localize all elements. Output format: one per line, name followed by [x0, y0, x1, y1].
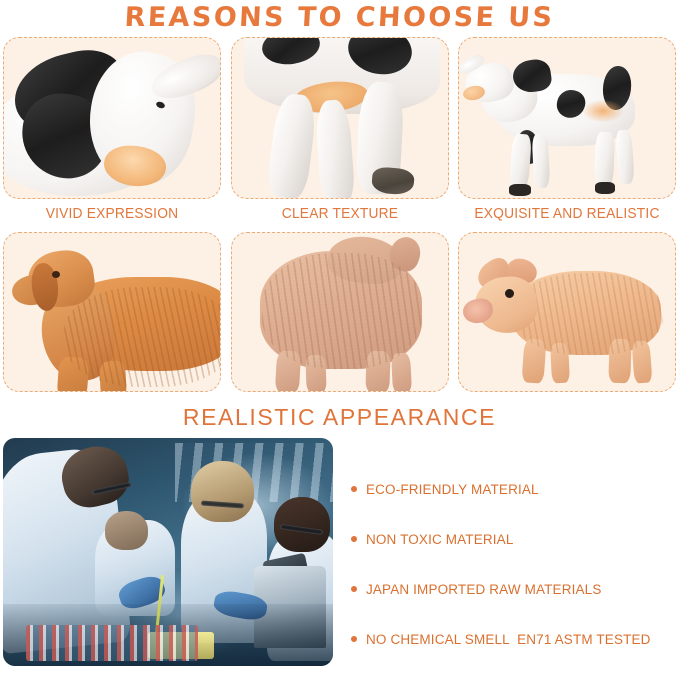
product-image-full-calf [458, 37, 676, 199]
laboratory-photo [3, 438, 333, 666]
bullet-icon [351, 586, 357, 592]
scientist-head-2 [105, 511, 148, 550]
feature-label: JAPAN IMPORTED RAW MATERIALS [366, 582, 601, 597]
calf-tan-shading [583, 100, 623, 122]
feature-list: ECO-FRIENDLY MATERIAL NON TOXIC MATERIAL… [333, 438, 679, 666]
gallery-row-2 [0, 232, 679, 392]
feature-item: NO CHEMICAL SMELL EN71 ASTM TESTED [351, 614, 679, 664]
caption-exquisite-and-realistic: EXQUISITE AND REALISTIC [467, 199, 668, 229]
calf-leg-4 [615, 130, 635, 185]
caption-vivid-expression: VIVID EXPRESSION [12, 199, 213, 229]
product-image-calf-legs [231, 37, 449, 199]
gallery-row-1: VIVID EXPRESSION CLEAR TEXTURE [0, 37, 679, 229]
feature-label: ECO-FRIENDLY MATERIAL [366, 482, 539, 497]
page-title: REASONS TO CHOOSE US [0, 0, 679, 33]
bullet-icon [351, 636, 357, 642]
realistic-appearance-section: ECO-FRIENDLY MATERIAL NON TOXIC MATERIAL… [0, 438, 679, 666]
gallery-cell-vivid-expression: VIVID EXPRESSION [3, 37, 221, 229]
pig-fur-texture [515, 273, 663, 355]
sheep-fleece-texture [262, 253, 422, 369]
dog-eye-shape [52, 271, 60, 278]
calf-leg-2 [532, 134, 551, 189]
scientist-head-3 [191, 461, 254, 523]
feature-item: NON TOXIC MATERIAL [351, 514, 679, 564]
gallery-cell-pig [458, 232, 676, 392]
pig-eye-shape [505, 289, 514, 298]
calf-hoof-1 [509, 184, 531, 196]
test-tube-rack [26, 625, 198, 661]
product-image-sheep [231, 232, 449, 392]
product-image-calf-head [3, 37, 221, 199]
gallery-cell-sheep [231, 232, 449, 392]
calf-hoof-2 [595, 182, 615, 194]
calf-leg-3 [594, 132, 615, 189]
calf-leg-1 [265, 92, 317, 199]
gallery-cell-exquisite-realistic: EXQUISITE AND REALISTIC [458, 37, 676, 229]
feature-item: ECO-FRIENDLY MATERIAL [351, 464, 679, 514]
calf-leg-1 [509, 133, 532, 190]
product-image-pig [458, 232, 676, 392]
feature-label: NO CHEMICAL SMELL EN71 ASTM TESTED [366, 632, 651, 647]
feature-item: JAPAN IMPORTED RAW MATERIALS [351, 564, 679, 614]
gallery-cell-dog [3, 232, 221, 392]
dog-fur-texture [64, 287, 221, 387]
section-title-realistic-appearance: REALISTIC APPEARANCE [0, 402, 679, 432]
bullet-icon [351, 536, 357, 542]
gallery-cell-clear-texture: CLEAR TEXTURE [231, 37, 449, 229]
bullet-icon [351, 486, 357, 492]
caption-clear-texture: CLEAR TEXTURE [239, 199, 440, 229]
feature-label: NON TOXIC MATERIAL [366, 532, 513, 547]
product-image-dog [3, 232, 221, 392]
